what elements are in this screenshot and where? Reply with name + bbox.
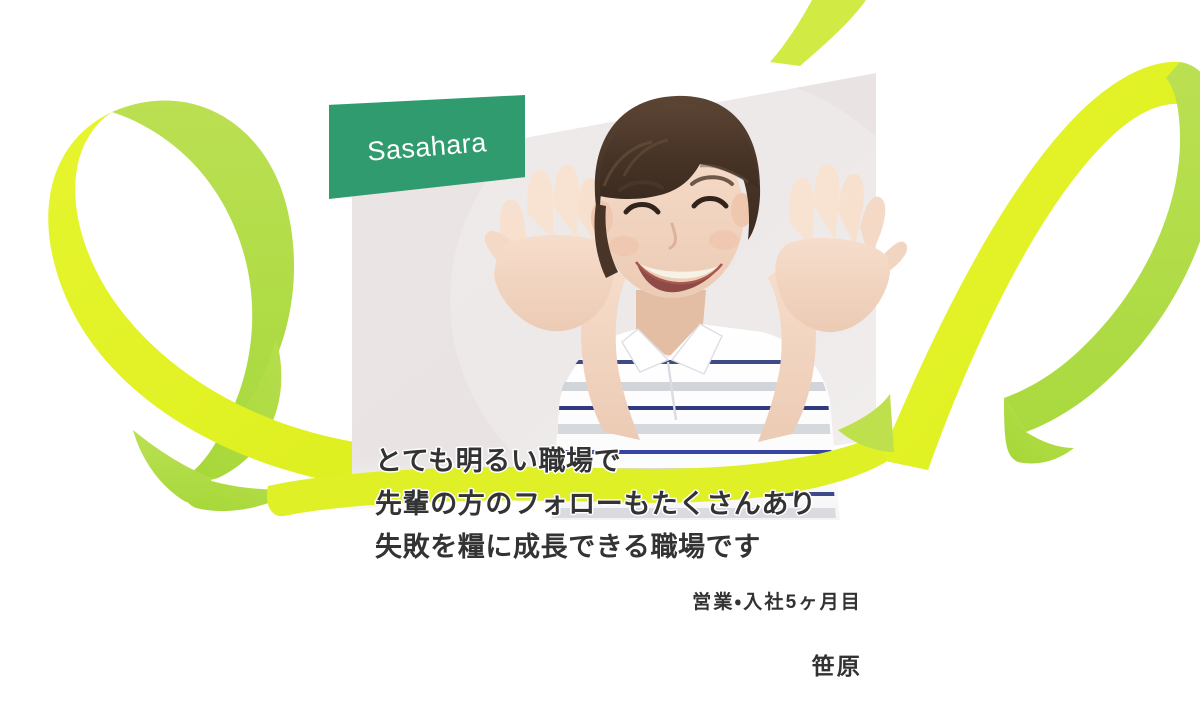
attribution-role: 営業・入社5ヶ月目 bbox=[0, 590, 862, 616]
attribution: 営業・入社5ヶ月目 笹原 bbox=[0, 590, 862, 680]
name-tag: Sasahara bbox=[329, 95, 525, 199]
name-tag-label: Sasahara bbox=[325, 87, 529, 206]
quote-line-3: 失敗を糧に成長できる職場です bbox=[0, 526, 878, 569]
quote-line-2: 先輩の方のフォローもたくさんあり bbox=[0, 483, 878, 526]
testimonial-banner: Sasahara とても明るい職場で 先輩の方のフォローもたくさんあり 失敗を糧… bbox=[0, 0, 1200, 704]
quote-block: とても明るい職場で 先輩の方のフォローもたくさんあり 失敗を糧に成長できる職場で… bbox=[0, 440, 878, 569]
attribution-name: 笹原 bbox=[0, 652, 862, 680]
quote-line-1: とても明るい職場で bbox=[0, 440, 878, 483]
